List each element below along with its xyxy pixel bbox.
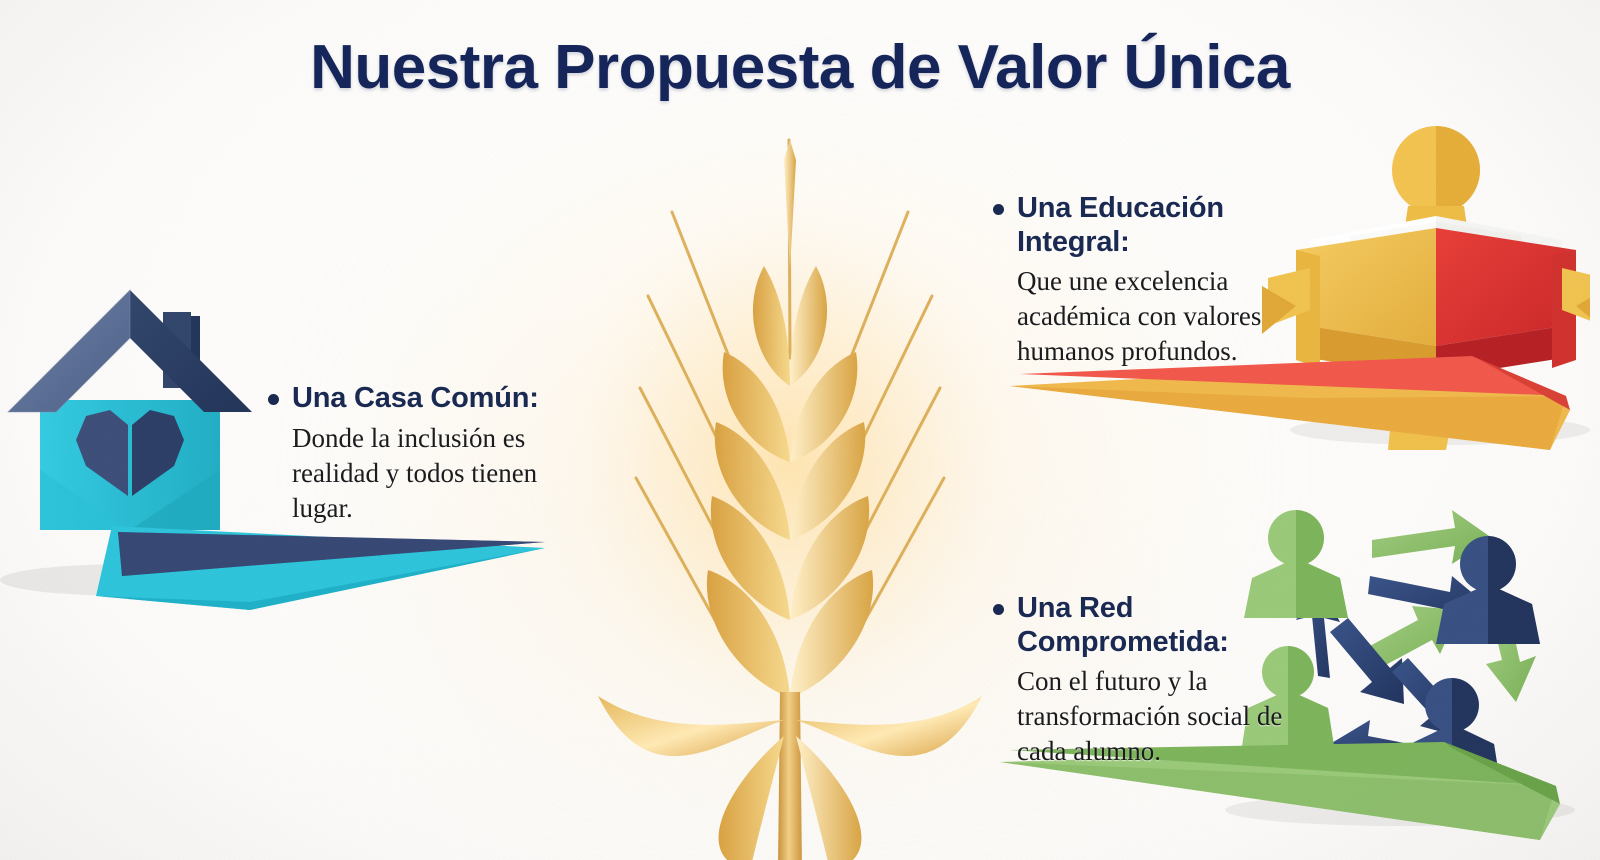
value-point-red-body: Con el futuro y la transformación social… [1017, 664, 1293, 769]
value-point-red-heading-text: Una Red Comprometida: [1017, 592, 1293, 659]
value-point-educacion-heading: Una Educación Integral: [993, 192, 1293, 259]
value-point-casa-heading: Una Casa Común: [268, 382, 598, 416]
bullet-icon [993, 204, 1004, 215]
value-point-casa-body: Donde la inclusión es realidad y todos t… [292, 421, 598, 526]
bullet-icon [268, 394, 279, 405]
value-point-educacion-heading-text: Una Educación Integral: [1017, 192, 1293, 259]
page-title: Nuestra Propuesta de Valor Única [0, 32, 1600, 103]
value-point-educacion: Una Educación Integral: Que une excelenc… [993, 192, 1293, 370]
bullet-icon [993, 604, 1004, 615]
origami-wheat-stalk [540, 100, 1040, 860]
value-point-casa-heading-text: Una Casa Común: [292, 382, 539, 416]
value-point-casa: Una Casa Común: Donde la inclusión es re… [268, 382, 598, 526]
value-point-educacion-body: Que une excelencia académica con valores… [1017, 264, 1293, 369]
value-point-red-heading: Una Red Comprometida: [993, 592, 1293, 659]
value-point-red: Una Red Comprometida: Con el futuro y la… [993, 592, 1293, 770]
